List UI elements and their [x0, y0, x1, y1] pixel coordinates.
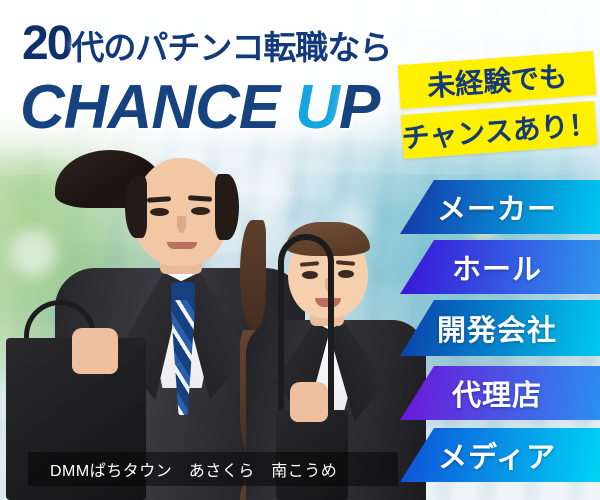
- page-title: 20代のパチンコ転職なら: [22, 16, 391, 71]
- credit-bar: DMMぱちタウン あさくら 南こうめ: [28, 452, 398, 486]
- man-nose: [177, 216, 186, 233]
- brand-logo: CHANCEUP: [20, 72, 379, 143]
- logo-letter-u: U: [295, 73, 339, 142]
- category-button-maker[interactable]: メーカー: [400, 180, 600, 234]
- man-hair-side-left: [125, 176, 147, 238]
- headline-suffix: なら: [327, 29, 391, 66]
- category-button-development-company[interactable]: 開発会社: [400, 300, 600, 356]
- man-mouth: [167, 242, 197, 249]
- woman-hand: [290, 382, 328, 422]
- man-hair-side-right: [215, 174, 239, 240]
- recruitment-banner: 20代のパチンコ転職なら CHANCEUP 未経験でも チャンスあり！ メーカー…: [0, 0, 600, 500]
- category-button-hall[interactable]: ホール: [400, 240, 600, 294]
- category-label: 代理店: [452, 372, 542, 414]
- credit-text: DMMぱちタウン あさくら 南こうめ: [50, 457, 337, 481]
- woman-hair-side-left: [240, 220, 266, 330]
- category-label: 開発会社: [437, 307, 557, 349]
- category-button-agency[interactable]: 代理店: [400, 366, 600, 420]
- category-label: ホール: [452, 246, 542, 288]
- badge-label: 未経験でも: [426, 55, 569, 105]
- man-eye-right: [191, 207, 210, 215]
- logo-word-chance: CHANCE: [20, 73, 279, 142]
- category-button-media[interactable]: メディア: [400, 428, 600, 482]
- headline-number: 20: [22, 17, 71, 70]
- people-photo: [0, 150, 420, 500]
- man-eye-left: [150, 208, 169, 216]
- man-tie-knot: [171, 282, 196, 301]
- category-label: メーカー: [437, 186, 557, 228]
- headline-middle: 代のパチンコ転職: [71, 29, 327, 66]
- logo-letter-p: P: [339, 73, 379, 142]
- category-label: メディア: [438, 434, 556, 476]
- woman-eye-right: [338, 270, 354, 278]
- man-hand: [72, 328, 118, 374]
